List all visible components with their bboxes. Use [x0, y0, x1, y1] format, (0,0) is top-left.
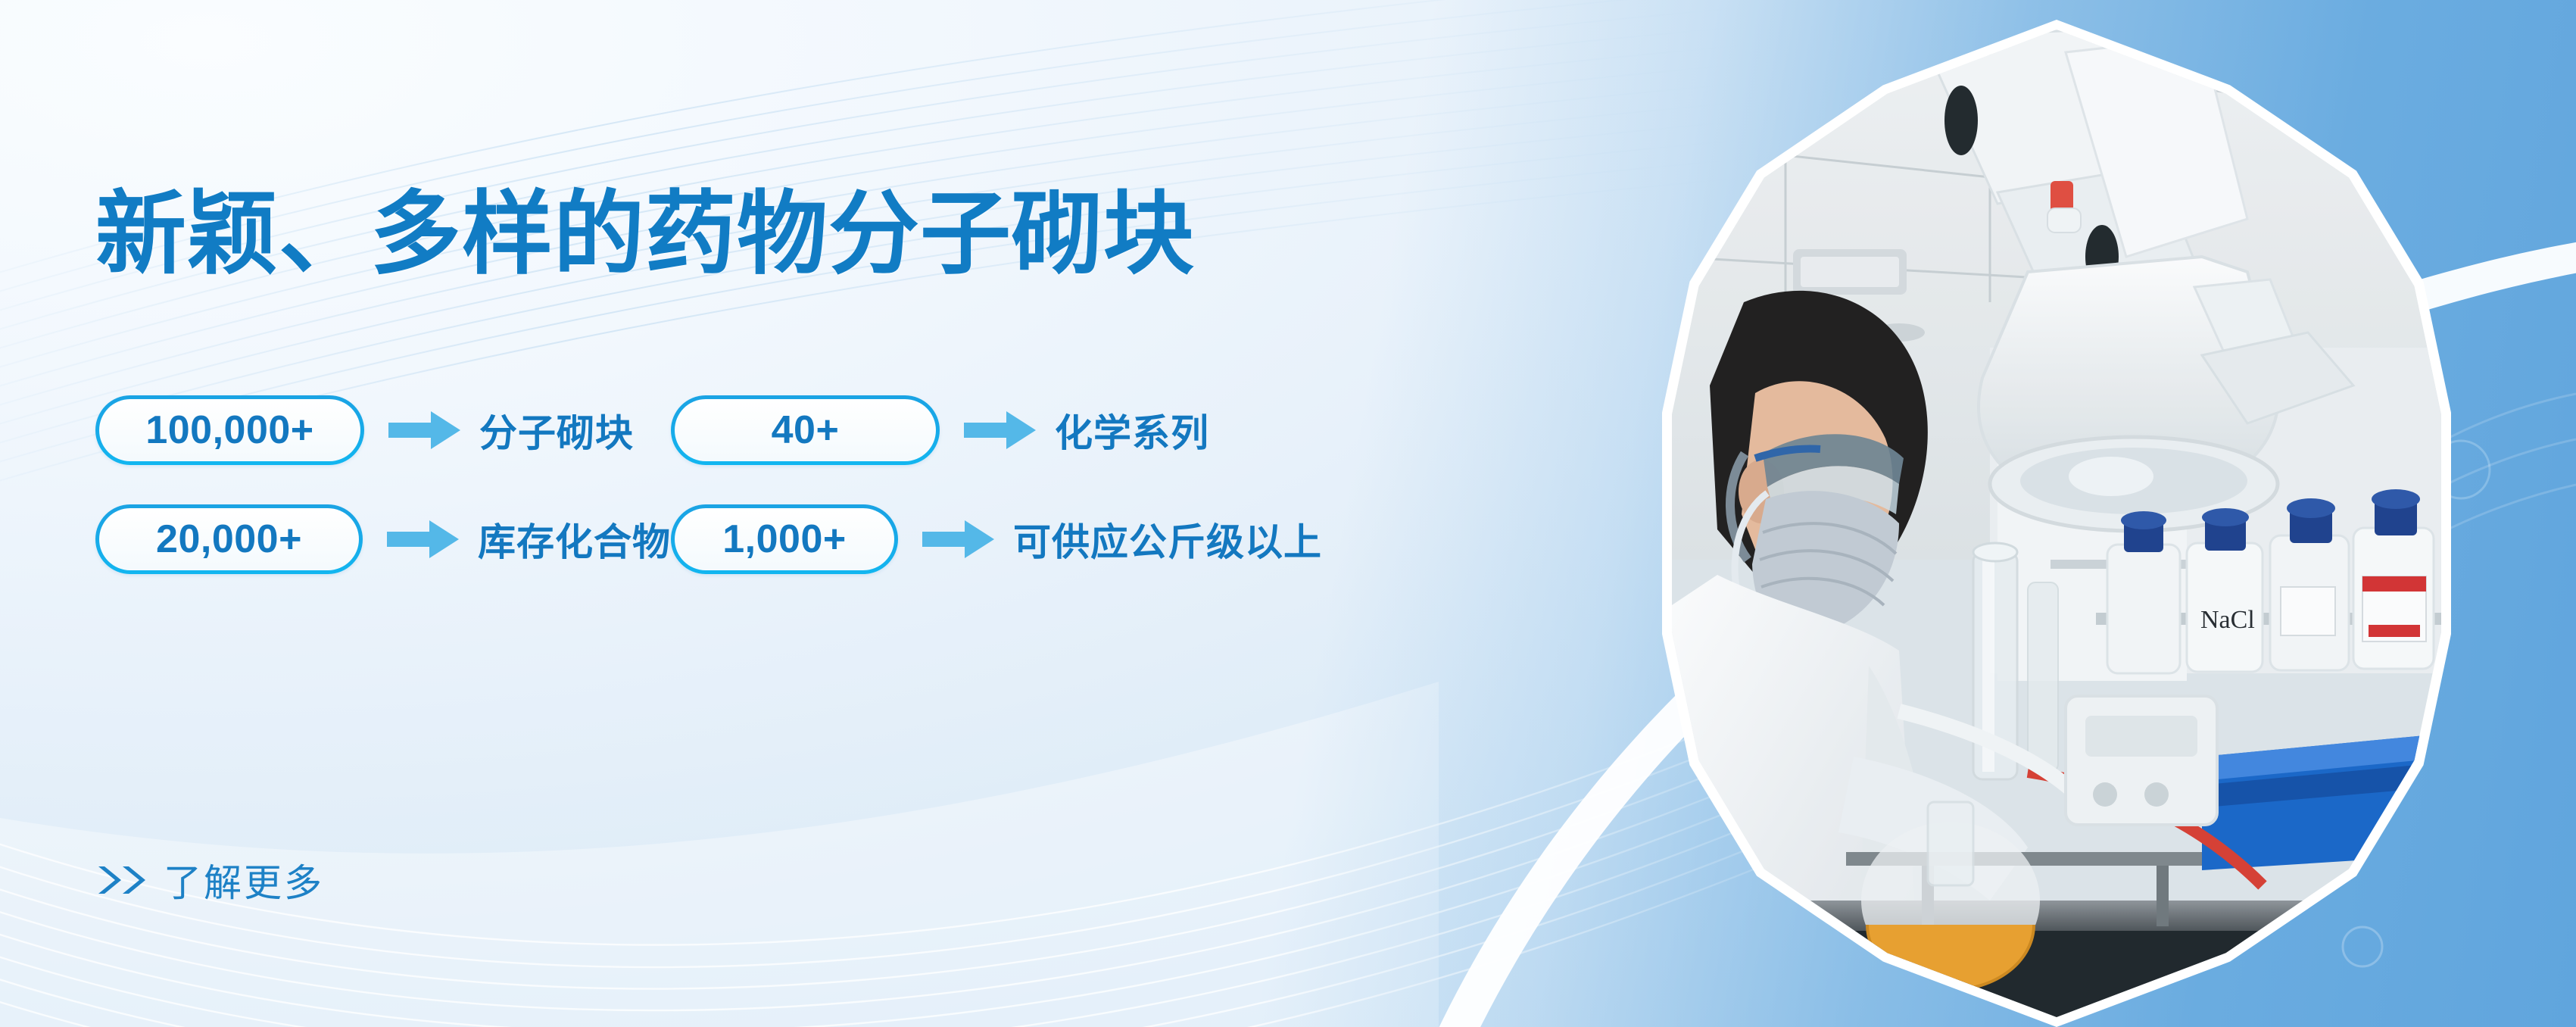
stat-label: 库存化合物: [478, 512, 671, 567]
stat-item: 100,000+ 分子砌块: [95, 395, 671, 465]
arrow-right-icon: [388, 408, 461, 452]
stat-pill: 100,000+: [95, 395, 364, 465]
stat-pill: 20,000+: [95, 504, 363, 574]
learn-more-label: 了解更多: [164, 853, 324, 907]
arrow-right-icon: [964, 408, 1037, 452]
page-title: 新颖、多样的药物分子砌块: [95, 179, 1195, 289]
stat-label: 化学系列: [1055, 403, 1209, 457]
stat-value: 20,000+: [156, 520, 302, 559]
stat-value: 40+: [772, 410, 840, 450]
stat-label: 可供应公斤级以上: [1013, 512, 1322, 567]
stat-pill: 1,000+: [671, 504, 898, 574]
double-chevron-right-icon: [97, 863, 153, 897]
stat-label: 分子砌块: [479, 403, 634, 457]
stats-grid: 100,000+ 分子砌块 40+ 化学系列 20,: [95, 395, 1322, 574]
arrow-right-icon: [387, 517, 460, 561]
stat-item: 40+ 化学系列: [671, 395, 1322, 465]
arrow-right-icon: [922, 517, 995, 561]
stat-value: 1,000+: [722, 520, 847, 559]
photo-image: NaCl: [1672, 30, 2441, 1017]
promo-banner: 新颖、多样的药物分子砌块 100,000+ 分子砌块 40+: [0, 0, 2576, 1027]
lab-researcher-photo: NaCl: [1662, 20, 2451, 1027]
stat-item: 1,000+ 可供应公斤级以上: [671, 504, 1322, 574]
stat-item: 20,000+ 库存化合物: [95, 504, 671, 574]
banner-content: 新颖、多样的药物分子砌块 100,000+ 分子砌块 40+: [0, 0, 1590, 1027]
stat-value: 100,000+: [145, 410, 313, 450]
learn-more-link[interactable]: 了解更多: [97, 851, 324, 909]
stat-pill: 40+: [671, 395, 940, 465]
